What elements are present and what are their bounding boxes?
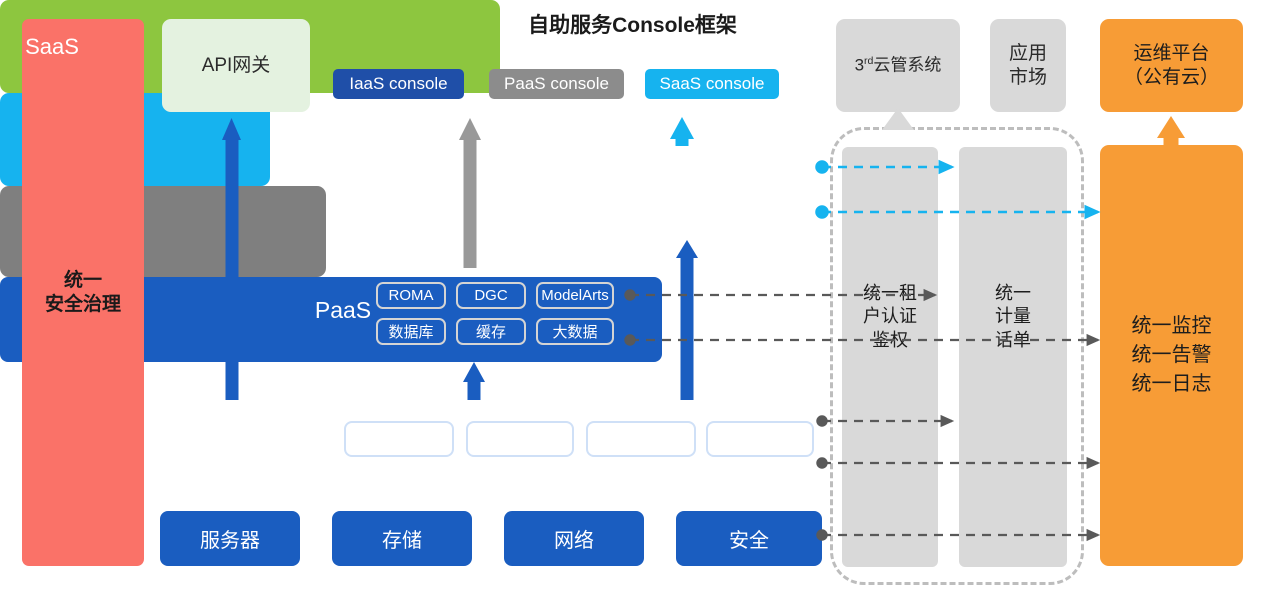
paas-service-database[interactable]: 数据库 xyxy=(376,318,446,345)
unified-metering-billing-label: 统一 计量 话单 xyxy=(959,282,1067,352)
infrastructure-label: 统一基础设施服务 xyxy=(172,427,338,456)
unified-tenant-auth-column[interactable] xyxy=(842,147,938,567)
saas-layer-label: SaaS xyxy=(12,34,92,60)
infra-service-network[interactable]: Network xyxy=(586,421,696,457)
api-gateway-label: API网关 xyxy=(202,54,271,77)
saas-console-chip[interactable]: SaaS console xyxy=(645,69,779,99)
resource-server[interactable]: 服务器 xyxy=(160,511,300,566)
architecture-diagram: 统一 安全治理 API网关 自助服务Console框架 IaaS console… xyxy=(0,0,1265,605)
saas-service-video-cloud[interactable]: 视频云 xyxy=(641,198,717,227)
auth-line-1: 统一租 xyxy=(842,282,938,305)
unified-tenant-auth-label: 统一租 户认证 鉴权 xyxy=(842,282,938,352)
infra-service-cce[interactable]: CCE xyxy=(706,421,814,457)
infra-service-compute[interactable]: Compute xyxy=(344,421,454,457)
unified-security-governance-block[interactable]: 统一 安全治理 xyxy=(22,19,144,566)
paas-service-modelarts[interactable]: ModelArts xyxy=(536,282,614,309)
unified-metering-billing-column[interactable] xyxy=(959,147,1067,567)
auth-line-3: 鉴权 xyxy=(842,329,938,352)
arrow-monitoring-to-ops-platform xyxy=(1157,116,1185,145)
ops-platform-line-1: 运维平台 xyxy=(1124,42,1219,65)
unified-monitoring-block[interactable]: 统一监控 统一告警 统一日志 xyxy=(1100,145,1243,566)
ops-platform-line-2: （公有云） xyxy=(1124,66,1219,89)
paas-service-bigdata[interactable]: 大数据 xyxy=(536,318,614,345)
infra-service-storage[interactable]: Storage xyxy=(466,421,574,457)
arrow-infra-to-saas xyxy=(676,240,698,400)
app-market-block[interactable]: 应用 市场 xyxy=(990,19,1066,112)
resource-network[interactable]: 网络 xyxy=(504,511,644,566)
iaas-console-chip[interactable]: IaaS console xyxy=(333,69,464,99)
third-party-label: 3rd云管系统 xyxy=(855,55,942,76)
paas-service-cache[interactable]: 缓存 xyxy=(456,318,526,345)
meter-line-1: 统一 xyxy=(959,282,1067,305)
ops-platform-public-cloud-block[interactable]: 运维平台 （公有云） xyxy=(1100,19,1243,112)
saas-service-iot[interactable]: IoT xyxy=(725,159,801,188)
arrow-saas-to-console xyxy=(670,117,694,146)
meter-line-3: 话单 xyxy=(959,329,1067,352)
paas-service-roma[interactable]: ROMA xyxy=(376,282,446,309)
governance-line-1: 统一 xyxy=(45,269,121,292)
monitoring-line-1: 统一监控 xyxy=(1132,312,1212,341)
console-frame-title: 自助服务Console框架 xyxy=(0,9,1265,39)
meter-line-2: 计量 xyxy=(959,305,1067,328)
saas-service-blockchain[interactable]: 区块链 xyxy=(641,159,717,188)
app-market-line-2: 市场 xyxy=(1009,66,1047,89)
app-market-line-1: 应用 xyxy=(1009,42,1047,65)
third-party-cloud-management-block[interactable]: 3rd云管系统 xyxy=(836,19,960,112)
saas-service-desktop-cloud[interactable]: 桌面云 xyxy=(725,198,801,227)
resource-storage[interactable]: 存储 xyxy=(332,511,472,566)
arrow-paas-to-console xyxy=(459,118,481,268)
paas-service-dgc[interactable]: DGC xyxy=(456,282,526,309)
resource-security[interactable]: 安全 xyxy=(676,511,822,566)
arrow-infra-to-paas xyxy=(463,362,485,400)
auth-line-2: 户认证 xyxy=(842,305,938,328)
paas-console-chip[interactable]: PaaS console xyxy=(489,69,624,99)
monitoring-line-3: 统一日志 xyxy=(1132,370,1212,399)
paas-layer-label: PaaS xyxy=(310,297,376,324)
governance-line-2: 安全治理 xyxy=(45,293,121,316)
monitoring-line-2: 统一告警 xyxy=(1132,341,1212,370)
